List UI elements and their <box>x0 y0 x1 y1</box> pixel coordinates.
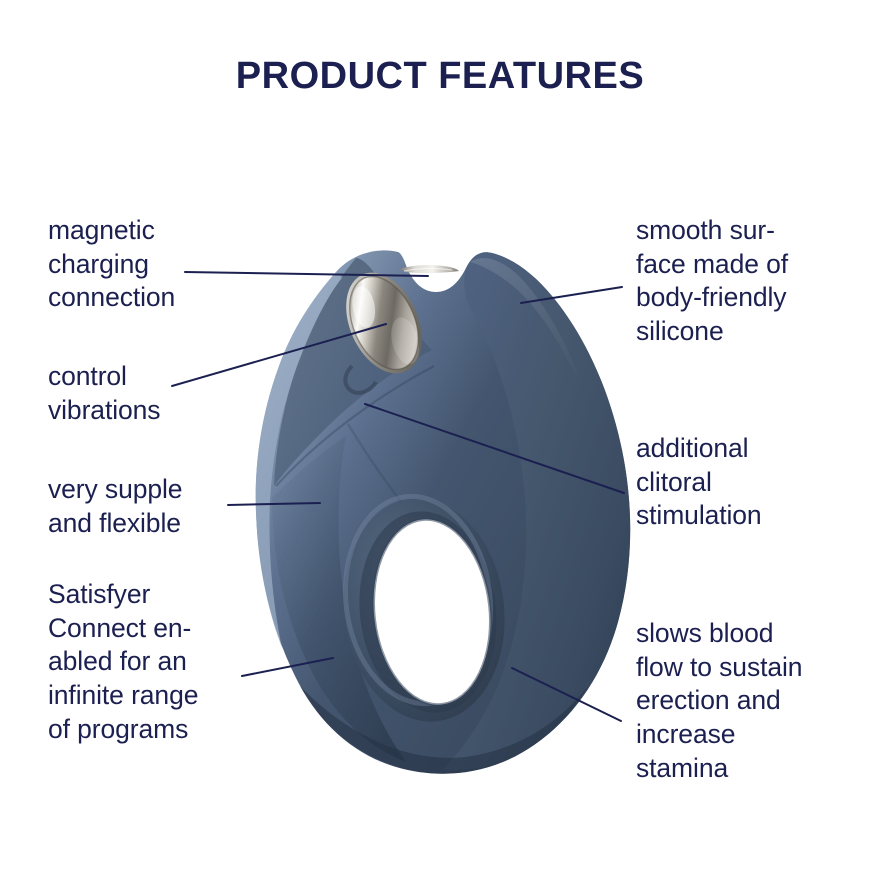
leader-magnetic-charging-connection <box>185 272 428 276</box>
body-lower-left-facet <box>272 436 406 762</box>
button-recess-shadow <box>345 366 376 393</box>
charging-contacts <box>400 265 459 273</box>
body-top-sheen <box>470 258 592 416</box>
ring-bore <box>331 488 517 731</box>
body-left-rim-highlight <box>256 272 342 648</box>
body-right-lobe <box>442 252 630 770</box>
body-silhouette <box>256 250 631 773</box>
callout-additional-clitoral-stimulation: additional clitoral stimulation <box>636 432 762 533</box>
leader-satisfyer-connect <box>242 658 333 676</box>
body-upper-facet <box>274 258 432 486</box>
callout-control-vibrations: control vibrations <box>48 360 160 427</box>
ring-hole-lip <box>365 513 500 710</box>
product-features-infographic: PRODUCT FEATURES <box>0 0 880 880</box>
callout-smooth-surface: smooth sur- face made of body-friendly s… <box>636 214 788 349</box>
control-button[interactable] <box>331 261 436 385</box>
leader-very-supple-and-flexible <box>228 503 320 505</box>
body-bottom-shadow <box>300 686 588 774</box>
page-title: PRODUCT FEATURES <box>0 55 880 98</box>
body-crease-lower <box>348 424 452 560</box>
callout-satisfyer-connect: Satisfyer Connect en- abled for an infin… <box>48 578 198 746</box>
leader-smooth-surface <box>521 287 622 303</box>
leader-additional-clitoral-stimulation <box>365 404 624 493</box>
leader-slows-blood-flow <box>512 668 621 721</box>
callout-slows-blood-flow: slows blood flow to sustain erection and… <box>636 617 802 785</box>
body-crease-upper <box>276 366 434 486</box>
product-body <box>256 250 631 773</box>
callout-very-supple-and-flexible: very supple and flexible <box>48 473 182 540</box>
leader-control-vibrations <box>172 324 386 386</box>
leader-lines <box>172 272 624 721</box>
callout-magnetic-charging-connection: magnetic charging connection <box>48 214 175 315</box>
